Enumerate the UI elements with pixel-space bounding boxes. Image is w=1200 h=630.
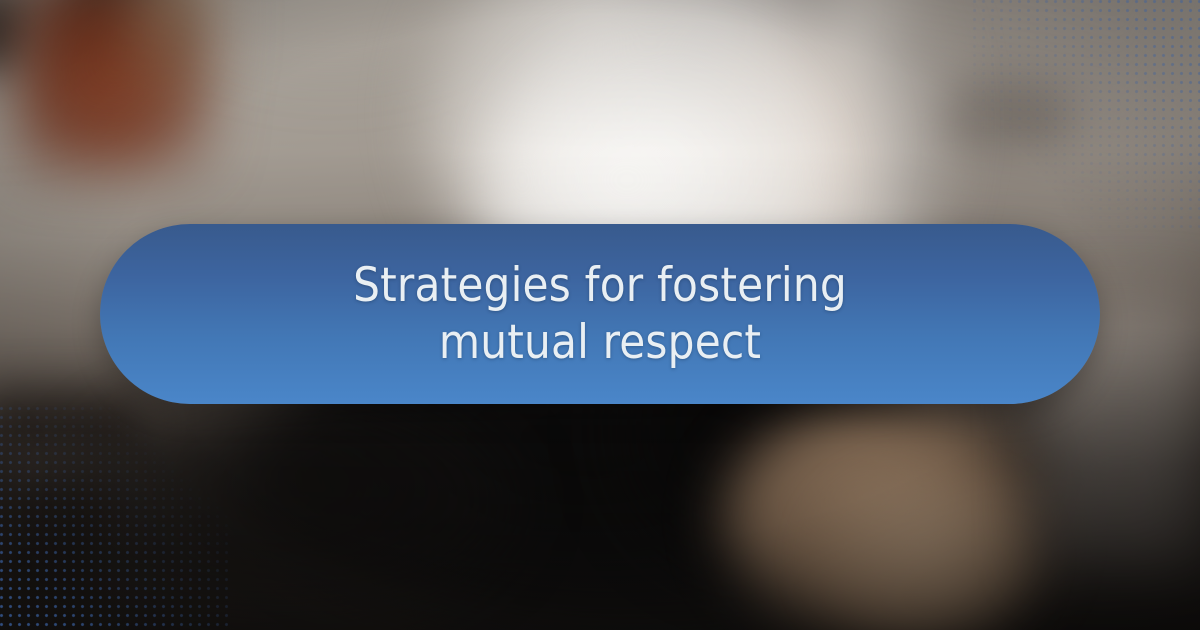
headline-pill: Strategies for fostering mutual respect xyxy=(100,224,1100,404)
page-title: Strategies for fostering mutual respect xyxy=(170,257,1030,372)
banner-canvas: Strategies for fostering mutual respect xyxy=(0,0,1200,630)
